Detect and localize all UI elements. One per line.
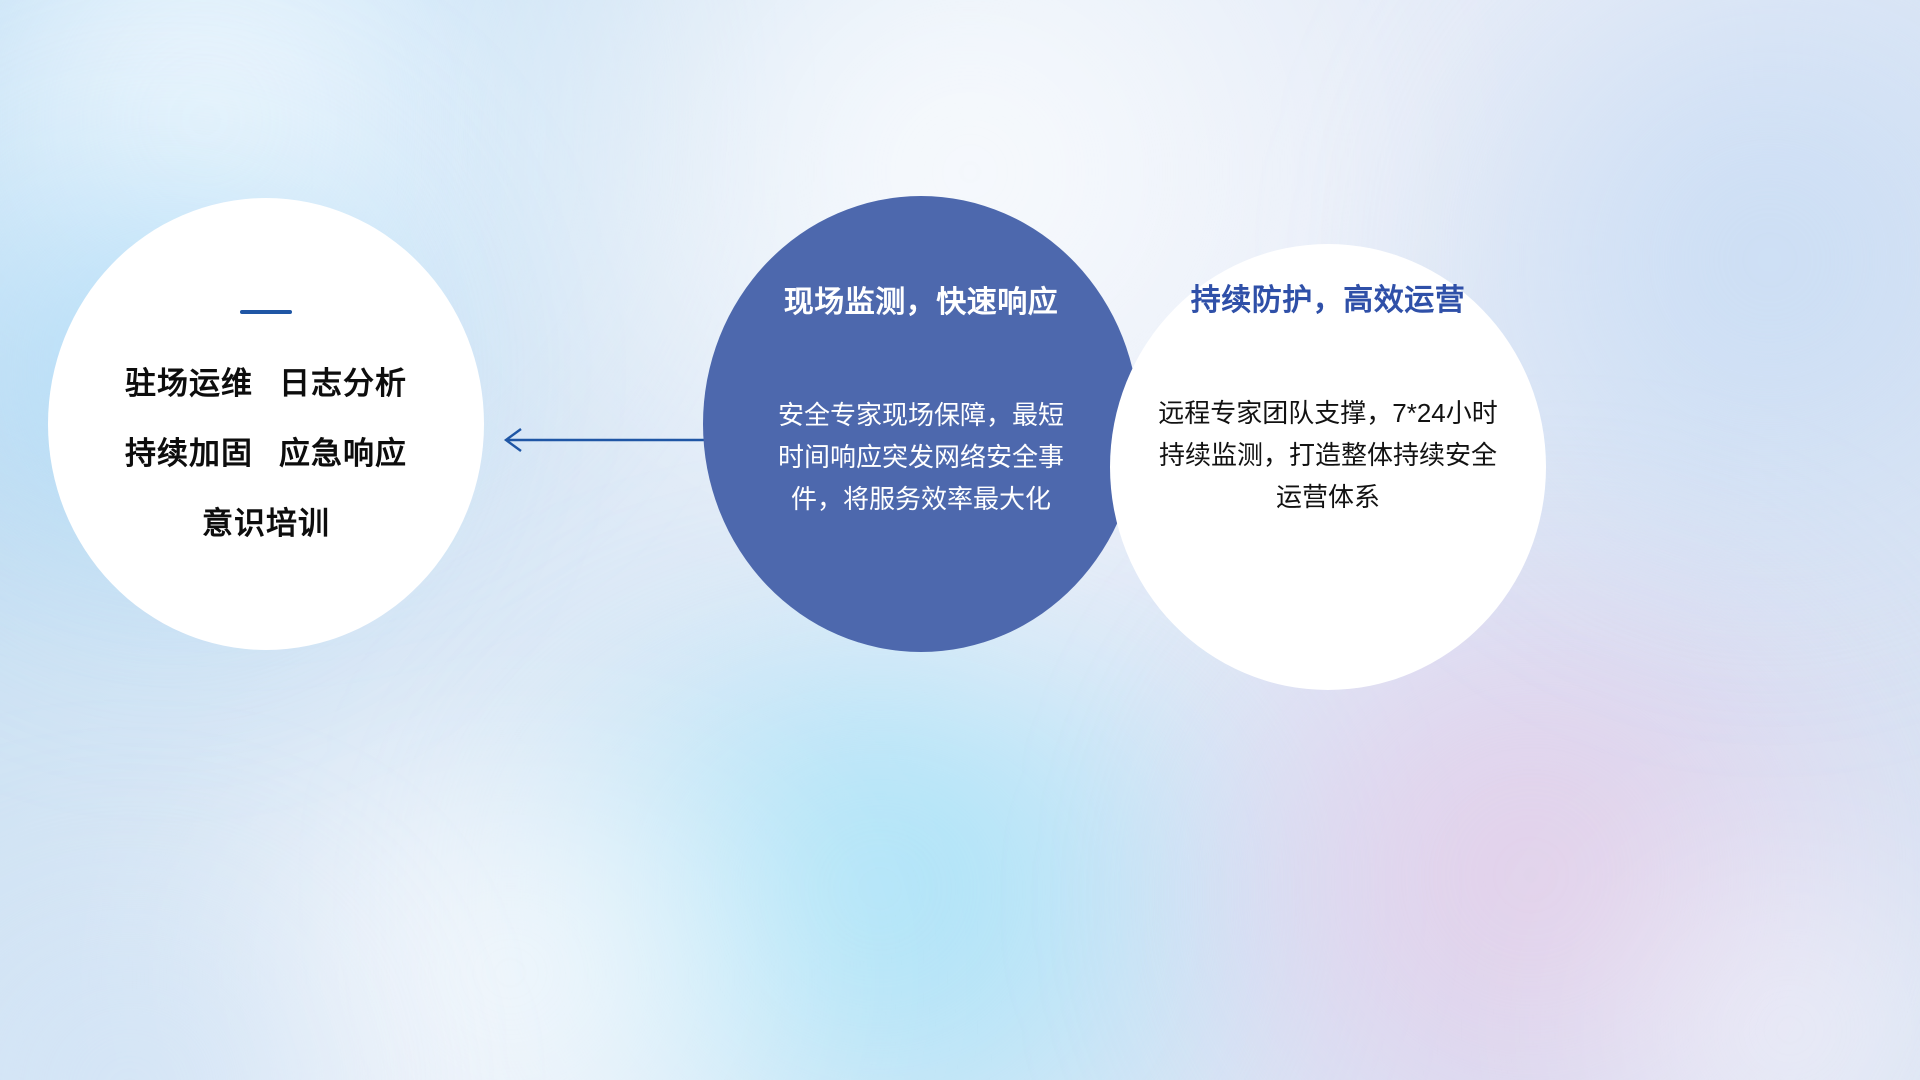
right-circle-title: 持续防护，高效运营	[1191, 286, 1466, 316]
right-circle-body: 远程专家团队支撑，7*24小时持续监测，打造整体持续安全运营体系	[1158, 392, 1498, 518]
divider-line	[240, 310, 292, 314]
mid-circle-card[interactable]: 现场监测，快速响应 安全专家现场保障，最短时间响应突发网络安全事件，将服务效率最…	[703, 196, 1139, 652]
left-arrow-icon	[495, 424, 720, 456]
capability-label-1b: 日志分析	[279, 366, 407, 401]
capability-label-2b: 应急响应	[279, 436, 407, 471]
capability-line-3: 意识培训	[202, 508, 330, 539]
capability-label-3a: 意识培训	[202, 506, 330, 541]
mid-circle-body: 安全专家现场保障，最短时间响应突发网络安全事件，将服务效率最大化	[771, 394, 1071, 520]
capability-line-2: 持续加固应急响应	[125, 438, 407, 469]
capability-line-1: 驻场运维日志分析	[125, 368, 407, 399]
capability-label-1a: 驻场运维	[125, 366, 253, 401]
capability-label-2a: 持续加固	[125, 436, 253, 471]
right-circle-card[interactable]: 持续防护，高效运营 远程专家团队支撑，7*24小时持续监测，打造整体持续安全运营…	[1110, 244, 1546, 690]
left-circle-card[interactable]: 驻场运维日志分析 持续加固应急响应 意识培训	[48, 198, 484, 650]
slide-canvas: 驻场运维日志分析 持续加固应急响应 意识培训 现场监测，快速响应 安全专家现场保…	[0, 0, 1920, 1080]
mid-circle-title: 现场监测，快速响应	[784, 288, 1059, 318]
